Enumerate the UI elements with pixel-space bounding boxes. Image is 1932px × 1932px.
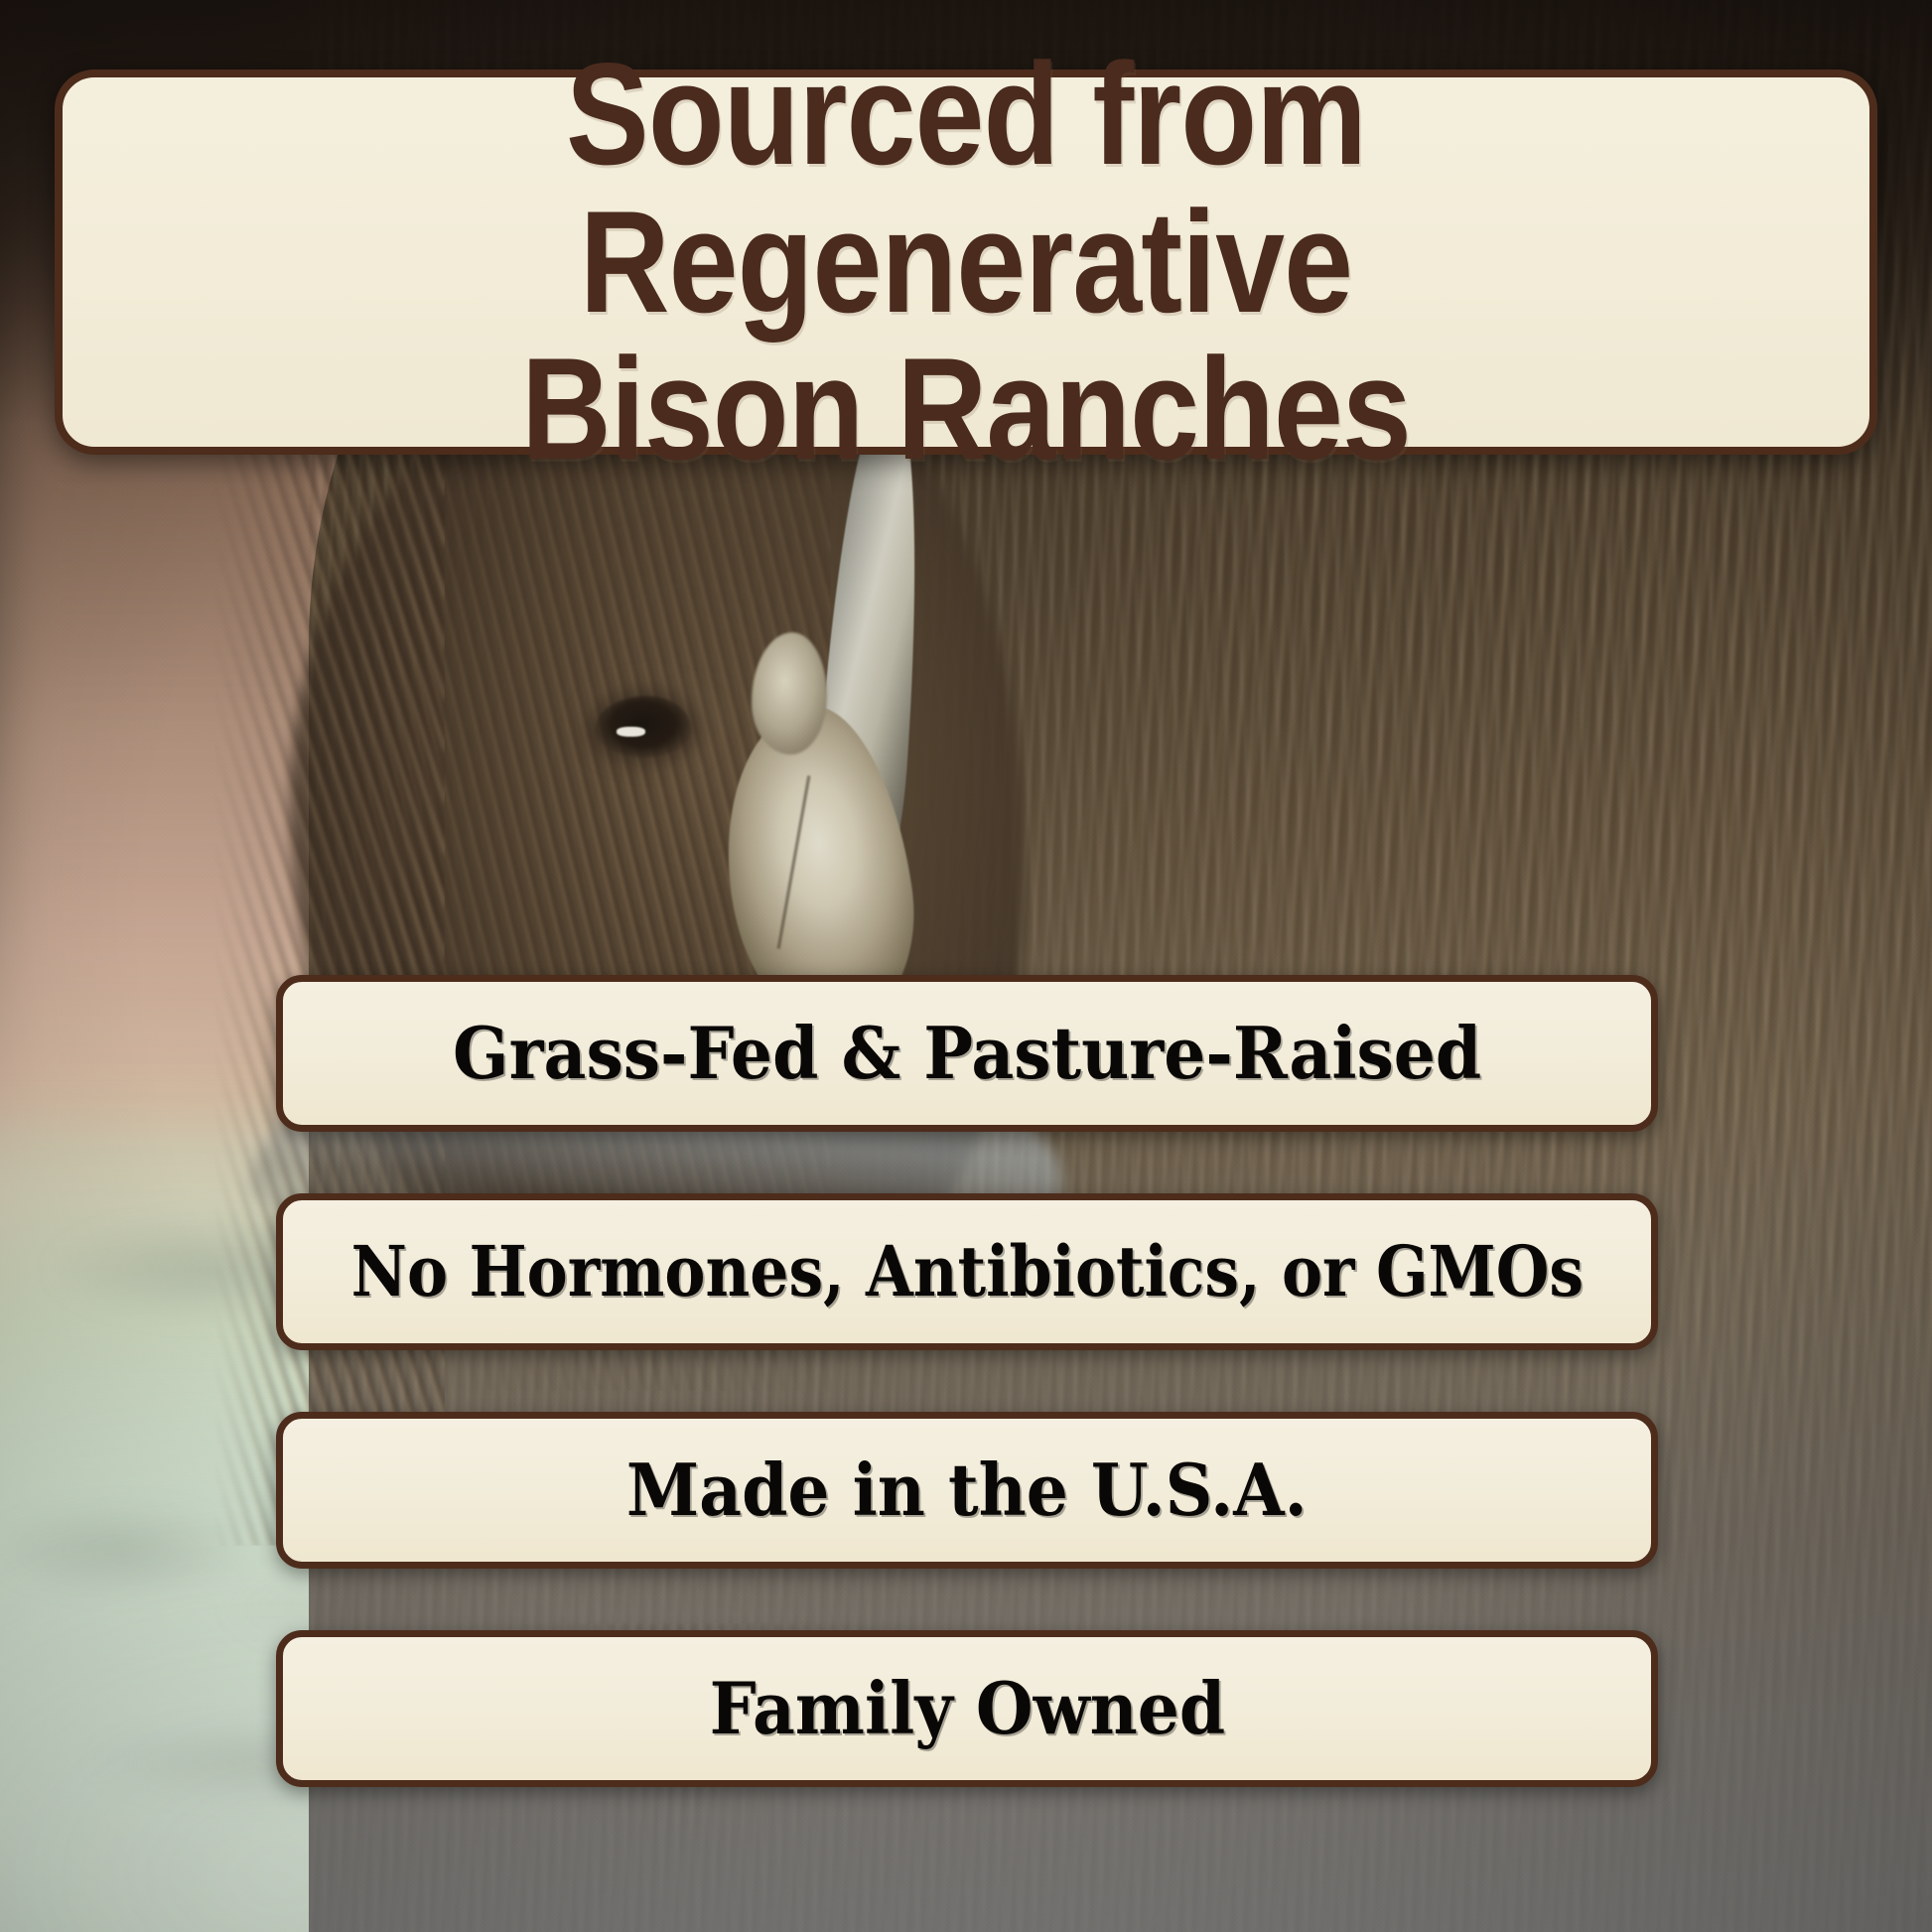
bison-horn-base-nub [752,632,827,755]
claim-badge: Family Owned [276,1630,1658,1787]
bison-eye-glint [617,727,645,738]
product-feature-poster: Sourced from Regenerative Bison Ranches … [0,0,1932,1932]
bison-horn [705,396,995,1072]
claim-badge: Made in the U.S.A. [276,1412,1658,1569]
title-card: Sourced from Regenerative Bison Ranches [55,69,1877,455]
bison-eye [595,696,691,758]
claim-badge: No Hormones, Antibiotics, or GMOs [276,1193,1658,1350]
claims-list: Grass-Fed & Pasture-Raised No Hormones, … [276,975,1658,1787]
claim-badge-label: Made in the U.S.A. [626,1454,1308,1526]
claim-badge-label: Grass-Fed & Pasture-Raised [453,1018,1481,1089]
poster-title: Sourced from Regenerative Bison Ranches [189,41,1742,484]
claim-badge-label: Family Owned [709,1673,1225,1744]
claim-badge-label: No Hormones, Antibiotics, or GMOs [350,1237,1583,1307]
claim-badge: Grass-Fed & Pasture-Raised [276,975,1658,1132]
